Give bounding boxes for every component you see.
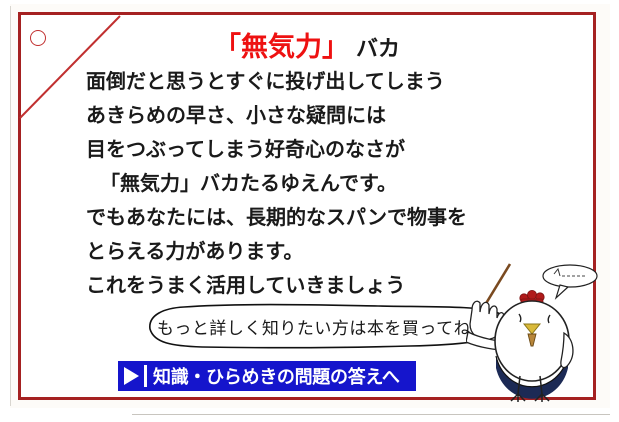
speech-bubble-text: もっと詳しく知りたい方は本を買ってね	[144, 314, 484, 339]
page-root: 「無気力」バカ 面倒だと思うとすぐに投げ出してしまう あきらめの早さ、小さな疑問…	[0, 0, 619, 422]
answer-link-label: 知識・ひらめきの問題の答えへ	[153, 363, 400, 389]
title-highlight: 「無気力」	[214, 32, 349, 63]
answer-link-banner[interactable]: 知識・ひらめきの問題の答えへ	[118, 361, 416, 391]
mini-speech-bubble	[543, 265, 597, 298]
bottom-rule-divider	[132, 414, 610, 415]
body-line: 面倒だと思うとすぐに投げ出してしまう	[86, 64, 556, 98]
body-line: 「無気力」バカたるゆえんです。	[86, 166, 556, 200]
chicken-mascot	[466, 258, 606, 403]
page-title: 「無気力」バカ	[18, 25, 596, 64]
play-triangle-icon	[124, 367, 139, 385]
body-line: 目をつぶってしまう好奇心のなさが	[86, 132, 556, 166]
left-rule-divider	[10, 6, 11, 406]
title-suffix: バカ	[356, 37, 400, 62]
body-line: でもあなたには、長期的なスパンで物事を	[86, 200, 556, 234]
body-line: あきらめの早さ、小さな疑問には	[86, 98, 556, 132]
speech-bubble: もっと詳しく知りたい方は本を買ってね	[110, 303, 510, 351]
banner-divider	[144, 365, 147, 387]
